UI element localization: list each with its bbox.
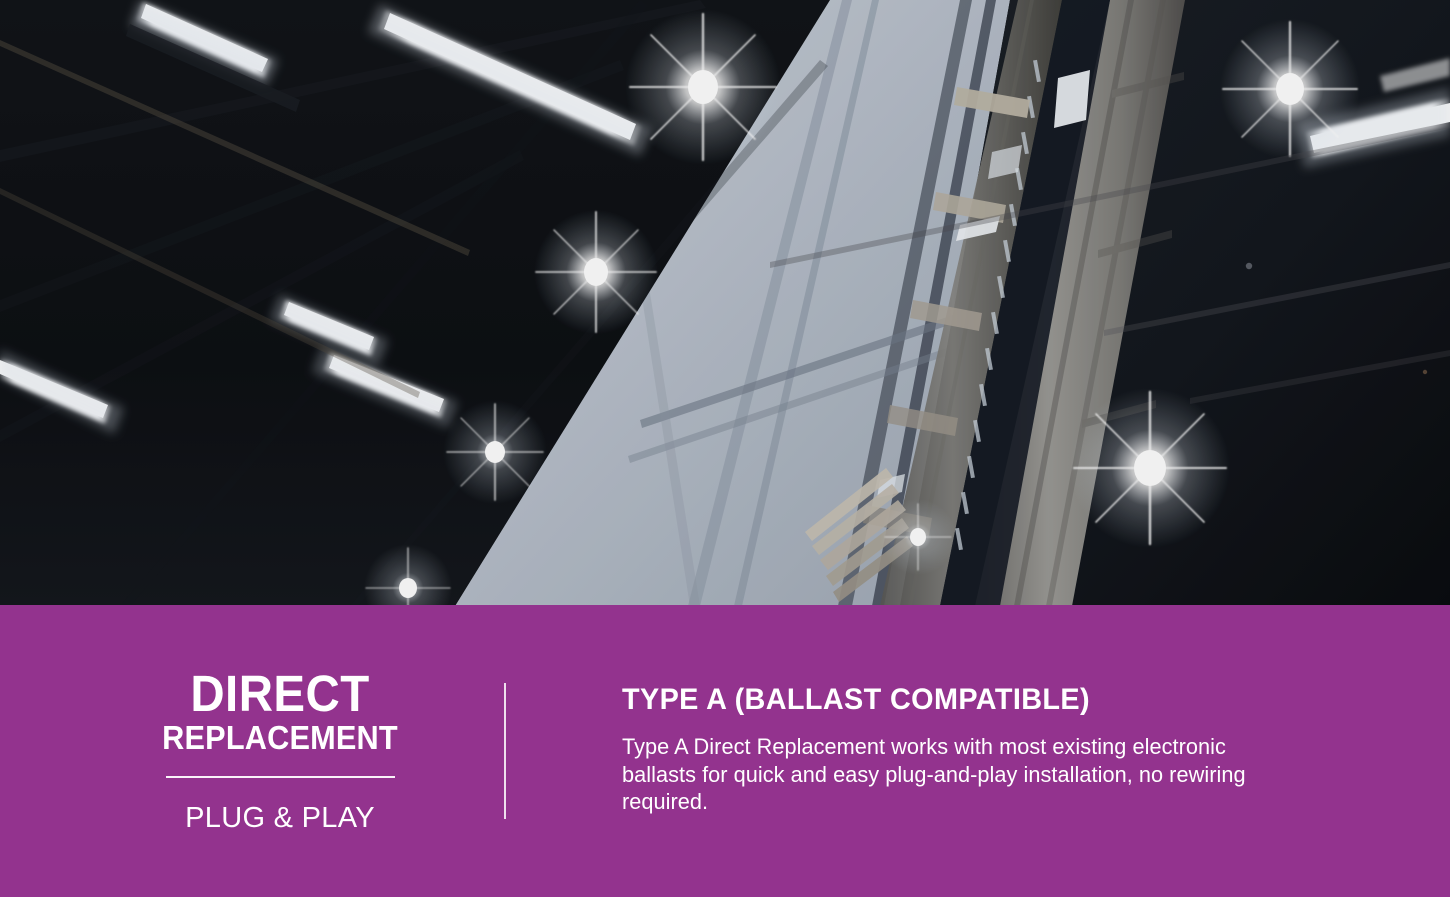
lockup-divider-rule — [166, 776, 395, 778]
copy-block: TYPE A (BALLAST COMPATIBLE) Type A Direc… — [622, 683, 1312, 816]
vertical-divider — [504, 683, 506, 819]
copy-body: Type A Direct Replacement works with mos… — [622, 733, 1288, 816]
hero-image — [0, 0, 1450, 606]
direct-replacement-banner: DIRECT REPLACEMENT PLUG & PLAY TYPE A (B… — [0, 0, 1450, 897]
lockup-title-line1: DIRECT — [94, 668, 466, 720]
lockup-title-line2: REPLACEMENT — [94, 720, 466, 756]
copy-heading: TYPE A (BALLAST COMPATIBLE) — [622, 683, 1284, 717]
hero-image-artwork — [0, 0, 1450, 606]
lockup-tagline: PLUG & PLAY — [80, 802, 480, 834]
product-lockup: DIRECT REPLACEMENT PLUG & PLAY — [80, 668, 480, 834]
